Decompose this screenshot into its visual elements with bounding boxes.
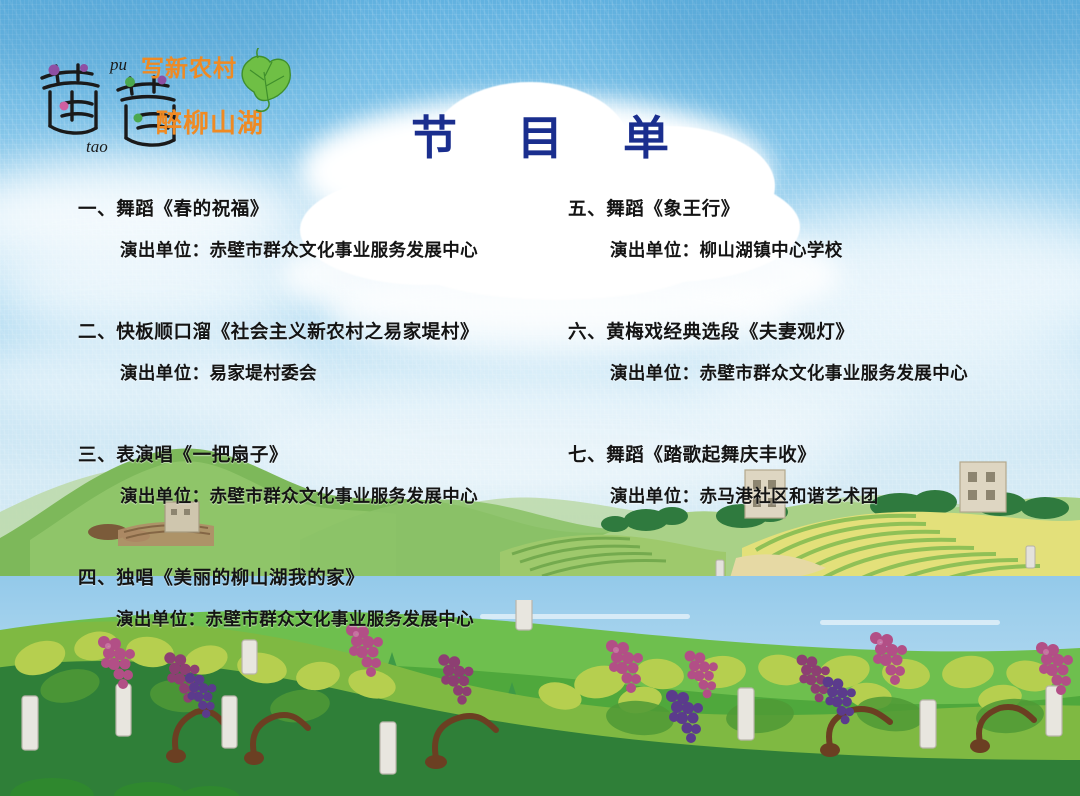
program-unit-7: 演出单位：赤马港社区和谐艺术团 [610, 483, 1068, 509]
program-item-4: 四、独唱《美丽的柳山湖我的家》 演出单位：赤壁市群众文化事业服务发展中心 [78, 565, 578, 632]
program-column-right: 五、舞蹈《象王行》 演出单位：柳山湖镇中心学校 六、黄梅戏经典选段《夫妻观灯》 … [568, 196, 1068, 565]
program-unit-2: 演出单位：易家堤村委会 [120, 360, 578, 386]
program-title-1: 一、舞蹈《春的祝福》 [78, 196, 578, 222]
program-title-3: 三、表演唱《一把扇子》 [78, 442, 578, 468]
program-item-5: 五、舞蹈《象王行》 演出单位：柳山湖镇中心学校 [568, 196, 1068, 263]
program-unit-6: 演出单位：赤壁市群众文化事业服务发展中心 [610, 360, 1068, 386]
program-title-5: 五、舞蹈《象王行》 [568, 196, 1068, 222]
program-item-7: 七、舞蹈《踏歌起舞庆丰收》 演出单位：赤马港社区和谐艺术团 [568, 442, 1068, 509]
program-unit-5: 演出单位：柳山湖镇中心学校 [610, 237, 1068, 263]
logo-pinyin-top: pu [109, 55, 127, 74]
program-column-left: 一、舞蹈《春的祝福》 演出单位：赤壁市群众文化事业服务发展中心 二、快板顺口溜《… [78, 196, 578, 688]
logo-slogan-line1: 写新农村 [141, 55, 237, 82]
poster-canvas: pu tao 写新农村 醉柳山湖 节 目 单 一、舞蹈《春的祝福》 演出单位：赤… [0, 0, 1080, 796]
program-title-7: 七、舞蹈《踏歌起舞庆丰收》 [568, 442, 1068, 468]
program-title-4: 四、独唱《美丽的柳山湖我的家》 [78, 565, 578, 591]
program-item-2: 二、快板顺口溜《社会主义新农村之易家堤村》 演出单位：易家堤村委会 [78, 319, 578, 386]
program-item-3: 三、表演唱《一把扇子》 演出单位：赤壁市群众文化事业服务发展中心 [78, 442, 578, 509]
program-list: 一、舞蹈《春的祝福》 演出单位：赤壁市群众文化事业服务发展中心 二、快板顺口溜《… [0, 196, 1080, 666]
program-item-1: 一、舞蹈《春的祝福》 演出单位：赤壁市群众文化事业服务发展中心 [78, 196, 578, 263]
program-unit-3: 演出单位：赤壁市群众文化事业服务发展中心 [120, 483, 578, 509]
program-unit-1: 演出单位：赤壁市群众文化事业服务发展中心 [120, 237, 578, 263]
page-title: 节 目 单 [0, 102, 1080, 168]
program-unit-4: 演出单位：赤壁市群众文化事业服务发展中心 [116, 606, 578, 632]
program-title-2: 二、快板顺口溜《社会主义新农村之易家堤村》 [78, 319, 578, 345]
program-title-6: 六、黄梅戏经典选段《夫妻观灯》 [568, 319, 1068, 345]
program-item-6: 六、黄梅戏经典选段《夫妻观灯》 演出单位：赤壁市群众文化事业服务发展中心 [568, 319, 1068, 386]
